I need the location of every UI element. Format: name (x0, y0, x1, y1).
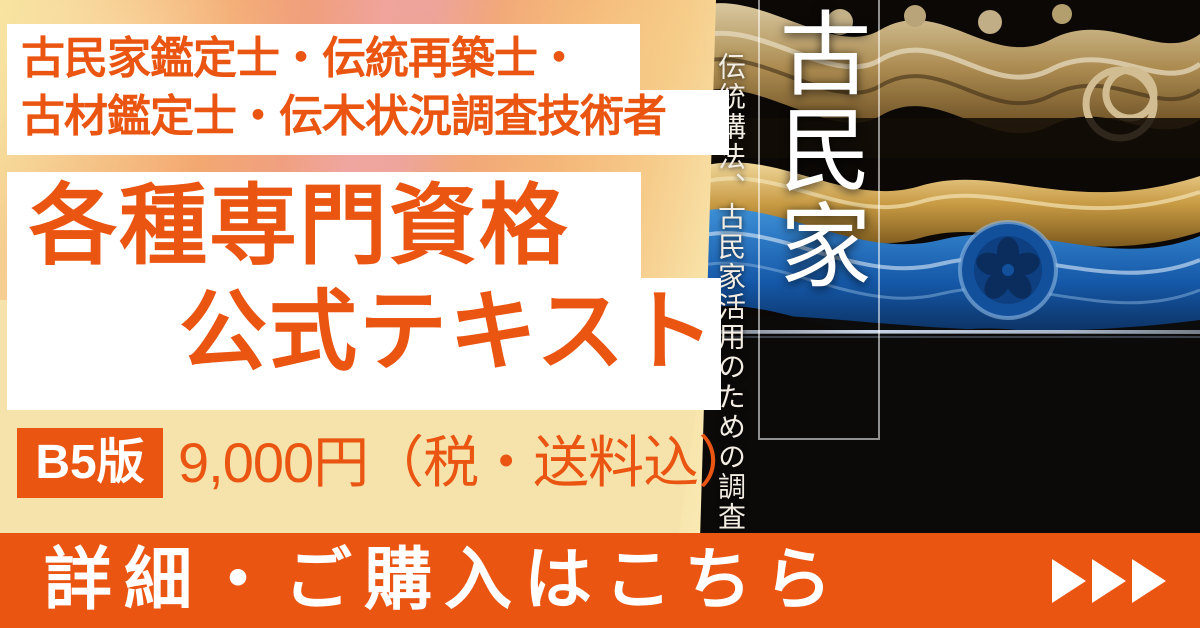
cover-title-text: 古民家 (766, 6, 870, 294)
certifications-text: 古民家鑑定士・伝統再築士・ 古材鑑定士・伝木状況調査技術者 (21, 30, 731, 146)
price-text: 9,000円（税・送料込） (178, 428, 753, 498)
cta-label[interactable]: 詳細・ご購入はこちら (44, 533, 844, 628)
book-cover-image: 古民家 伝統構法、古民家活用のための調査と再生の (690, 0, 1200, 540)
certifications-panel: 古民家鑑定士・伝統再築士・ 古材鑑定士・伝木状況調査技術者 (7, 24, 729, 155)
headline-line-1: 各種専門資格 (29, 178, 569, 275)
format-badge-b5: B5版 (17, 428, 163, 498)
cta-arrow-group (1052, 533, 1166, 628)
headline-line-2: 公式テキスト (179, 284, 716, 381)
promotional-banner: 古民家 伝統構法、古民家活用のための調査と再生の 古民家鑑定士・伝統再築士・ 古… (0, 0, 1200, 628)
headline-panel: 各種専門資格 公式テキスト (7, 172, 721, 410)
certifications-line-2: 古材鑑定士・伝木状況調査技術者 (21, 88, 731, 146)
cta-bar[interactable]: 詳細・ご購入はこちら (0, 533, 1200, 628)
certifications-line-1: 古民家鑑定士・伝統再築士・ (21, 30, 731, 88)
triangle-right-icon (1092, 559, 1126, 603)
triangle-right-icon (1132, 559, 1166, 603)
triangle-right-icon (1052, 559, 1086, 603)
